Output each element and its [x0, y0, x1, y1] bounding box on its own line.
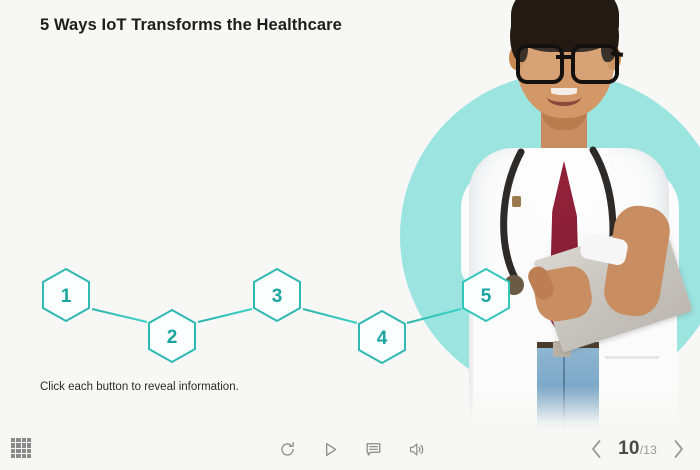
- page-indicator: 10/13: [618, 438, 657, 460]
- player-toolbar: 10/13: [0, 428, 700, 470]
- playback-controls: [272, 435, 432, 463]
- pagination-controls: 10/13: [589, 432, 686, 466]
- page-title: 5 Ways IoT Transforms the Healthcare: [40, 16, 342, 35]
- notes-icon: [365, 441, 382, 458]
- play-button[interactable]: [315, 436, 345, 462]
- slide-canvas: 5 Ways IoT Transforms the Healthcare: [0, 0, 700, 470]
- hexagon-step-2-label: 2: [167, 327, 178, 348]
- play-icon: [322, 441, 339, 458]
- chevron-right-icon: [671, 438, 686, 460]
- hexagon-step-2[interactable]: 2: [149, 310, 195, 362]
- volume-icon: [408, 441, 425, 458]
- teeth: [551, 88, 577, 95]
- grid-icon[interactable]: [11, 438, 31, 458]
- volume-button[interactable]: [402, 436, 432, 462]
- hexagon-step-4-label: 4: [377, 328, 388, 349]
- notes-button[interactable]: [359, 436, 389, 462]
- prev-slide-button[interactable]: [589, 438, 604, 460]
- next-slide-button[interactable]: [671, 438, 686, 460]
- chevron-left-icon: [589, 438, 604, 460]
- hexagon-step-3[interactable]: 3: [254, 269, 300, 321]
- hero-illustration: [395, 0, 700, 432]
- total-pages: /13: [640, 443, 657, 457]
- current-page: 10: [618, 438, 640, 459]
- hero-bottom-fade: [395, 386, 700, 432]
- hexagon-step-3-label: 3: [272, 286, 283, 307]
- replay-button[interactable]: [272, 436, 302, 462]
- hexagon-step-1[interactable]: 1: [43, 269, 89, 321]
- eyeglasses-right-lens: [571, 44, 619, 84]
- hexagon-step-1-label: 1: [61, 286, 72, 307]
- eyeglasses-left-lens: [516, 44, 564, 84]
- hexagon-step-5-label: 5: [481, 286, 492, 307]
- replay-icon: [279, 441, 296, 458]
- doctor-photo: [395, 0, 700, 432]
- coat-pocket: [605, 356, 659, 359]
- eyeglasses-bridge: [556, 55, 573, 59]
- instruction-text: Click each button to reveal information.: [40, 381, 239, 393]
